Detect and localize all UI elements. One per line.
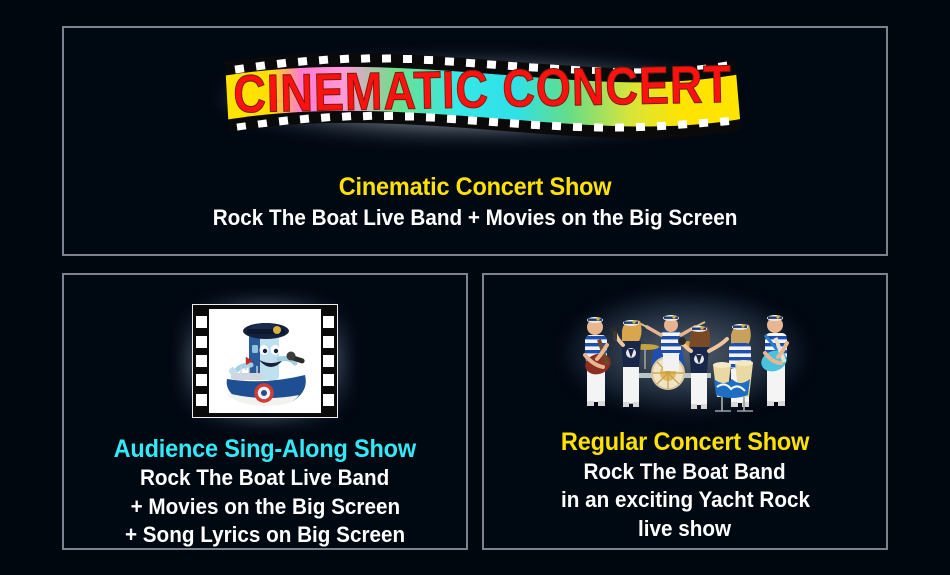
sprocket-hole: [323, 336, 334, 348]
sprocket-hole: [323, 355, 334, 367]
sprocket-hole: [196, 316, 207, 328]
right-panel-subtitle-line-1: Rock The Boat Band: [584, 459, 786, 485]
filmstrip-svg: CINEMATIC CONCERT: [195, 34, 755, 162]
cinematic-concert-filmstrip-logo: CINEMATIC CONCERT: [195, 34, 755, 162]
panel-audience-sing-along-show: Audience Sing-Along Show Rock The Boat L…: [62, 273, 468, 550]
top-panel-title: Cinematic Concert Show: [339, 174, 612, 201]
film-frame-border: [192, 304, 338, 418]
tugboat-mascot-svg: [209, 309, 321, 413]
sprocket-column-right: [322, 309, 335, 413]
sprocket-hole: [196, 394, 207, 406]
band-member-guitarist-left: [583, 317, 614, 406]
sprocket-column-left: [195, 309, 208, 413]
left-panel-subtitle-line-3: + Song Lyrics on Big Screen: [125, 522, 405, 548]
band-photo-svg: [565, 287, 805, 419]
left-panel-subtitle-line-1: Rock The Boat Live Band: [140, 465, 389, 491]
sprocket-hole: [196, 374, 207, 386]
band-member-guitarist-right: [758, 315, 789, 406]
band-photo-nautical: [565, 287, 805, 419]
tugboat-mascot-image: [209, 309, 321, 413]
right-panel-subtitle-line-2: in an exciting Yacht Rock: [560, 487, 809, 513]
panel-regular-concert-show: Regular Concert Show Rock The Boat Band …: [482, 273, 888, 550]
right-panel-subtitle-line-3: live show: [638, 516, 731, 542]
band-member-singer-left: [610, 320, 642, 407]
left-panel-title: Audience Sing-Along Show: [114, 436, 416, 463]
band-member-conga-player: [713, 324, 753, 411]
panel-cinematic-concert-show: CINEMATIC CONCERT Cinematic Concert Show…: [62, 26, 888, 256]
sprocket-hole: [196, 355, 207, 367]
top-panel-subtitle: Rock The Boat Live Band + Movies on the …: [213, 205, 738, 231]
sprocket-hole: [323, 374, 334, 386]
tugboat-mascot-film-frame: [174, 291, 356, 426]
logo-wordmark: CINEMATIC CONCERT: [233, 54, 733, 124]
sprocket-hole: [196, 336, 207, 348]
sprocket-hole: [323, 316, 334, 328]
promo-graphic: CINEMATIC CONCERT Cinematic Concert Show…: [0, 0, 950, 575]
right-panel-title: Regular Concert Show: [561, 429, 809, 456]
left-panel-subtitle-line-2: + Movies on the Big Screen: [130, 494, 399, 520]
sprocket-hole: [323, 394, 334, 406]
